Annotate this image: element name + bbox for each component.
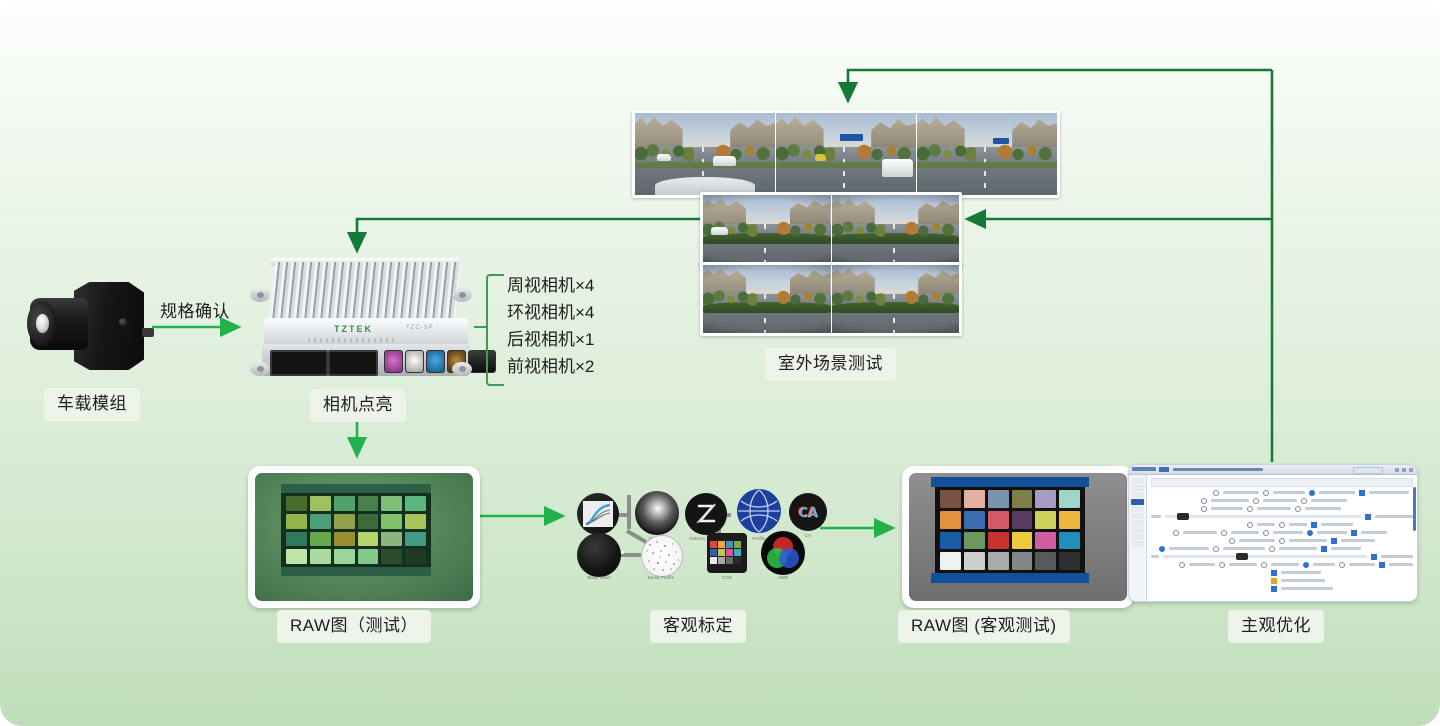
colorchecker-patch (940, 490, 961, 508)
parameter-slider[interactable] (1163, 555, 1367, 558)
blue-mesh-globe-icon (737, 489, 781, 533)
camera-list: 周视相机×4 环视相机×4 后视相机×1 前视相机×2 (507, 272, 594, 380)
colorchecker-patch (405, 532, 426, 547)
node-label-camera-module: 车载模组 (44, 388, 140, 421)
colorchecker-patch (310, 532, 331, 547)
calibration-node-label: Black Level (587, 575, 611, 580)
green-colorchecker-monitor-icon (248, 466, 480, 608)
colorchecker-patch (964, 552, 985, 570)
colorchecker-patch (310, 549, 331, 564)
rgb-venn-icon (761, 531, 805, 575)
colorchecker-patch (286, 496, 307, 511)
colorchecker-patch (334, 549, 355, 564)
colorchecker-patch (1012, 511, 1033, 529)
street-scene-photos-top-row (632, 110, 1060, 198)
surround-view-photos-row-1 (700, 192, 962, 268)
colorchecker-patch (1012, 532, 1033, 550)
colorchecker-patch (1035, 532, 1056, 550)
node-label-raw-objective: RAW图 (客观测试) (898, 610, 1070, 643)
colorchecker-patch (988, 511, 1009, 529)
node-label-calibration: 客观标定 (650, 610, 746, 643)
colorchecker-patch (286, 549, 307, 564)
colorchecker-patch (405, 496, 426, 511)
edge-label-spec-confirm: 规格确认 (160, 297, 230, 322)
surround-view-photo (832, 195, 960, 265)
camera-list-item: 后视相机×1 (507, 326, 594, 353)
colorchecker-patch (334, 514, 355, 529)
surround-view-photo (703, 265, 831, 333)
colorchecker-patch (286, 514, 307, 529)
colorchecker-patch (358, 532, 379, 547)
node-label-raw-test: RAW图（测试） (277, 610, 431, 643)
camera-list-item: 环视相机×4 (507, 299, 594, 326)
colorchecker-patch (381, 532, 402, 547)
ecu-subbrand-text: TZC-SP (406, 325, 434, 331)
calibration-node-label: AWB (778, 575, 788, 580)
surround-view-photo (703, 195, 831, 265)
street-scene-photo (917, 113, 1057, 195)
tuning-software-tablet-icon[interactable] (1128, 464, 1418, 602)
curve-chart-icon (577, 493, 619, 535)
colorchecker-patch (310, 496, 331, 511)
colorchecker-chip-icon (707, 533, 747, 573)
colorchecker-patch (940, 552, 961, 570)
software-window-title-bar (1129, 465, 1417, 475)
street-scene-photo (776, 113, 916, 195)
colorchecker-patch (358, 496, 379, 511)
colorchecker-patch (964, 490, 985, 508)
colorchecker-patch (381, 549, 402, 564)
colorchecker-patch (358, 549, 379, 564)
colorchecker-patch (381, 496, 402, 511)
camera-list-brace-stem (474, 326, 487, 328)
green-colorchecker-grid (286, 496, 426, 564)
colorchecker-patch (1059, 552, 1080, 570)
ecu-brand-text: TZTEK (334, 324, 373, 334)
node-label-ecu: 相机点亮 (310, 389, 406, 422)
colorchecker-patch (940, 532, 961, 550)
colorchecker-patch (1059, 511, 1080, 529)
colorchecker-patch (988, 532, 1009, 550)
colorchecker-patch (1035, 552, 1056, 570)
diagram-canvas: 车载模组 规格确认 TZTEK TZC-SP 相机点亮 周视相机×4 环视相机×… (0, 0, 1440, 726)
software-sidebar[interactable] (1129, 475, 1147, 601)
colorchecker-patch (334, 496, 355, 511)
colorchecker-patch (964, 532, 985, 550)
calibration-node-label: Noise Profile (648, 575, 674, 580)
surround-view-photos-row-2 (700, 262, 962, 336)
colorchecker-grid (940, 490, 1080, 570)
svg-text:CA: CA (799, 507, 819, 520)
z-defect-icon (685, 493, 727, 535)
camera-list-item: 周视相机×4 (507, 272, 594, 299)
colorchecker-patch (1059, 490, 1080, 508)
calibration-nodes-icon: Sensor FT Shading Defects & Noise Profil… (565, 485, 815, 575)
colorchecker-patch (381, 514, 402, 529)
colorchecker-patch (1059, 532, 1080, 550)
node-label-outdoor-test: 室外场景测试 (765, 348, 896, 381)
colorchecker-monitor-icon (902, 466, 1134, 608)
colorchecker-patch (1035, 511, 1056, 529)
colorchecker-patch (1012, 490, 1033, 508)
colorchecker-patch (405, 514, 426, 529)
camera-list-brace (486, 274, 504, 386)
colorchecker-patch (310, 514, 331, 529)
colorchecker-patch (964, 511, 985, 529)
chromatic-aberration-icon: CA CA CA (789, 493, 827, 531)
sidebar-item-system[interactable] (1131, 499, 1144, 505)
parameter-slider[interactable] (1165, 515, 1361, 518)
camera-module-icon (22, 270, 152, 385)
colorchecker-patch (405, 549, 426, 564)
node-label-subjective: 主观优化 (1228, 610, 1324, 643)
colorchecker-patch (940, 511, 961, 529)
colorchecker-patch (1035, 490, 1056, 508)
colorchecker-patch (988, 490, 1009, 508)
vertical-scrollbar[interactable] (1413, 487, 1416, 531)
calibration-node-label: CCM (722, 575, 732, 580)
colorchecker-patch (358, 514, 379, 529)
colorchecker-patch (1012, 552, 1033, 570)
software-parameter-panel[interactable] (1147, 475, 1417, 601)
black-level-icon (577, 533, 621, 577)
street-scene-photo (635, 113, 775, 195)
noise-profile-icon (641, 535, 683, 577)
calibration-node-label: CA (805, 533, 811, 538)
colorchecker-patch (334, 532, 355, 547)
colorchecker-patch (286, 532, 307, 547)
ecu-device-icon: TZTEK TZC-SP (246, 258, 478, 384)
lens-shading-sphere-icon (635, 491, 679, 535)
camera-list-item: 前视相机×2 (507, 353, 594, 380)
colorchecker-patch (988, 552, 1009, 570)
surround-view-photo (832, 265, 960, 333)
